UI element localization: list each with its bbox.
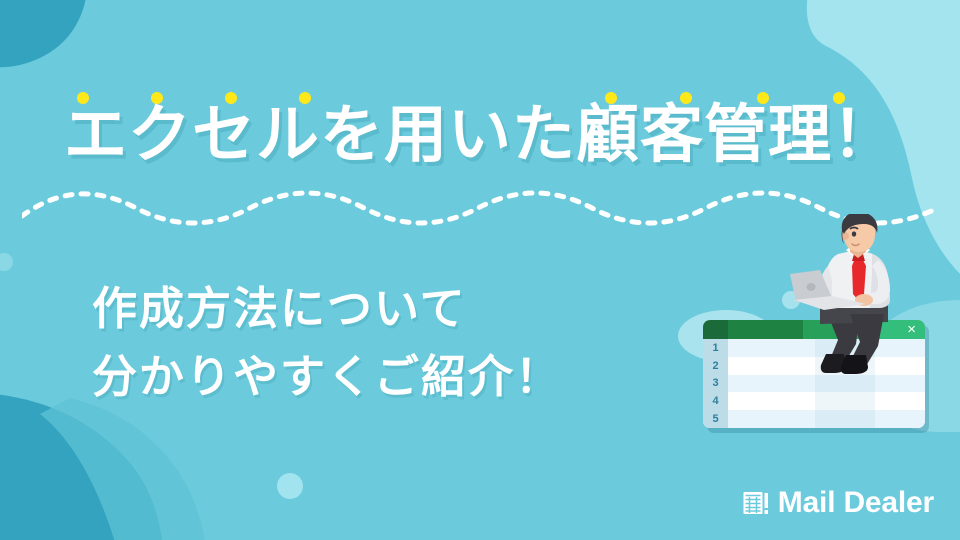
table-row: 3 bbox=[703, 375, 925, 393]
page-title: エクセルを用いた顧客管理！ bbox=[0, 104, 960, 167]
mark-exclaim-dot bbox=[764, 510, 768, 514]
row-number: 1 bbox=[703, 339, 728, 357]
table-row: 4 bbox=[703, 392, 925, 410]
subtitle-line-2: 分かりやすくご紹介！ bbox=[92, 343, 562, 411]
necktie bbox=[852, 258, 866, 300]
accent-circle-bottom-left bbox=[277, 473, 303, 499]
brand-wordmark: Mail Dealer bbox=[778, 488, 934, 518]
spreadsheet-corner-cell bbox=[703, 320, 728, 339]
column-shade bbox=[815, 410, 875, 428]
table-row: 5 bbox=[703, 410, 925, 428]
row-number: 5 bbox=[703, 410, 728, 428]
brand-logo[interactable]: Mail Dealer bbox=[743, 488, 934, 518]
rakuraku-mark-icon bbox=[743, 490, 770, 517]
mark-exclaim-bar bbox=[764, 493, 768, 508]
promo-banner: エクセルを用いた顧客管理！ 作成方法について 分かりやすくご紹介！ × 1 2 bbox=[0, 0, 960, 540]
laptop-logo bbox=[807, 283, 816, 291]
row-number: 3 bbox=[703, 375, 728, 393]
subtitle-line-1: 作成方法について bbox=[92, 275, 562, 343]
row-number: 4 bbox=[703, 392, 728, 410]
subtitle: 作成方法について 分かりやすくご紹介！ bbox=[92, 275, 562, 412]
businessman-illustration bbox=[786, 214, 926, 374]
shoe-near bbox=[841, 355, 868, 374]
column-shade bbox=[815, 392, 875, 410]
eye bbox=[852, 231, 856, 236]
row-number: 2 bbox=[703, 357, 728, 375]
column-shade bbox=[815, 375, 875, 393]
